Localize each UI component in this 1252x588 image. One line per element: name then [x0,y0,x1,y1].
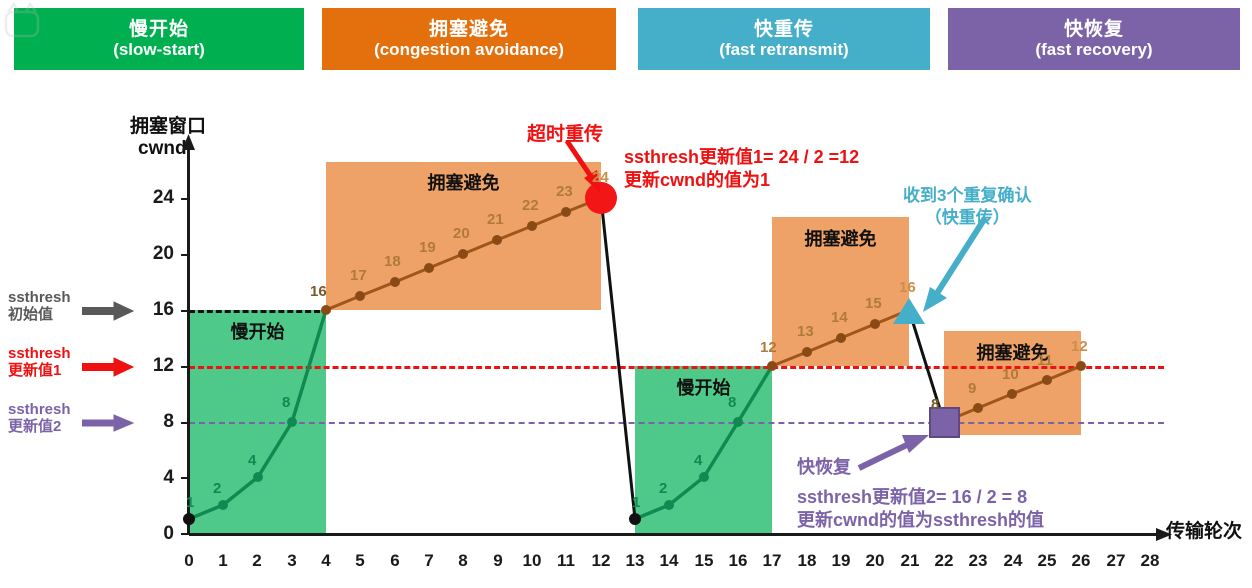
chart-plot-area: 拥塞窗口 cwnd 传输轮次 慢开始 拥塞避免 慢开始 拥塞避免 拥塞避免 [0,96,1252,588]
fast-retransmit-note-line1: 收到3个重复确认 [903,185,1031,207]
banner-title-en: (congestion avoidance) [374,40,564,59]
banner-fast-retransmit: 快重传 (fast retransmit) [638,8,930,70]
tcp-congestion-control-diagram: 慢开始 (slow-start) 拥塞避免 (congestion avoida… [0,0,1252,588]
banner-fast-recovery: 快恢复 (fast recovery) [948,8,1240,70]
timeout-detail-line1: ssthresh更新值1= 24 / 2 =12 [624,146,859,169]
fast-recovery-detail: ssthresh更新值2= 16 / 2 = 8 更新cwnd的值为ssthre… [797,486,1044,533]
timeout-detail-line2: 更新cwnd的值为1 [624,169,859,192]
ssthresh-update2-arrow [82,415,133,431]
ssthresh-update1-arrow [82,358,133,376]
fast-recovery-detail-line1: ssthresh更新值2= 16 / 2 = 8 [797,486,1044,509]
fast-retransmit-note: 收到3个重复确认 （快重传） [903,185,1031,229]
timeout-retransmit-title: 超时重传 [527,123,603,148]
banner-title-cn: 快恢复 [1064,19,1124,40]
banner-title-cn: 快重传 [754,19,814,40]
ssthresh-initial-arrow [82,302,133,320]
fast-recovery-detail-line2: 更新cwnd的值为ssthresh的值 [797,509,1044,532]
banner-title-en: (fast retransmit) [719,40,848,59]
banner-title-en: (slow-start) [113,40,205,59]
fast-retransmit-note-line2: （快重传） [903,207,1031,229]
watermark-logo [0,0,44,40]
fast-recovery-title: 快恢复 [797,456,851,479]
banner-slow-start: 慢开始 (slow-start) [14,8,304,70]
banner-title-en: (fast recovery) [1035,40,1152,59]
banner-congestion-avoidance: 拥塞避免 (congestion avoidance) [322,8,616,70]
banner-title-cn: 拥塞避免 [429,19,509,40]
banner-title-cn: 慢开始 [129,19,189,40]
timeout-retransmit-detail: ssthresh更新值1= 24 / 2 =12 更新cwnd的值为1 [624,146,859,193]
